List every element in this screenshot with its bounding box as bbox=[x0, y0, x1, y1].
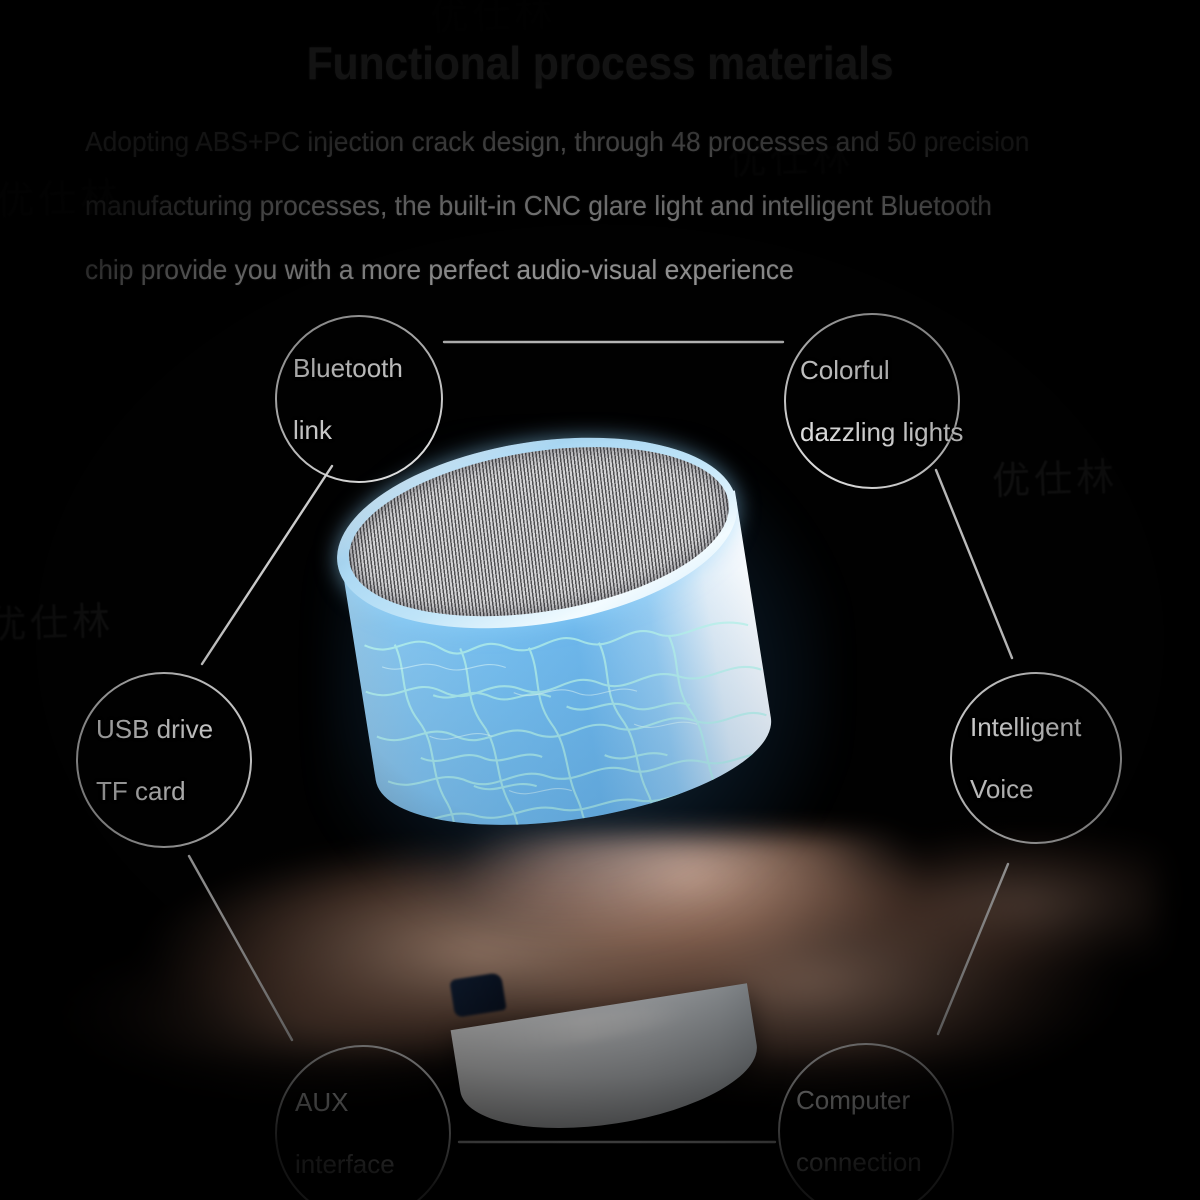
connector-right-lower bbox=[938, 864, 1008, 1034]
connector-left-lower bbox=[189, 856, 292, 1040]
page-title: Functional process materials bbox=[42, 36, 1158, 90]
callout-intelligent-voice[interactable]: Intelligent Voice bbox=[950, 672, 1122, 844]
callout-line: dazzling lights bbox=[800, 401, 958, 463]
callout-line: Colorful bbox=[800, 339, 958, 401]
page-subtitle: Adopting ABS+PC injection crack design, … bbox=[85, 110, 1117, 302]
callout-line: TF card bbox=[96, 760, 250, 822]
callout-line: Intelligent bbox=[970, 696, 1120, 758]
callout-line: USB drive bbox=[96, 698, 250, 760]
callout-line: Bluetooth bbox=[293, 337, 441, 399]
callout-colorful-lights[interactable]: Colorful dazzling lights bbox=[784, 313, 960, 489]
callout-line: connection bbox=[796, 1131, 952, 1193]
callout-usb-tf-card[interactable]: USB drive TF card bbox=[76, 672, 252, 848]
callout-line: link bbox=[293, 399, 441, 461]
connector-left-upper bbox=[202, 466, 332, 664]
callout-line: interface bbox=[295, 1133, 449, 1195]
callout-line: Voice bbox=[970, 758, 1120, 820]
callout-line: AUX bbox=[295, 1071, 449, 1133]
subtitle-line: chip provide you with a more perfect aud… bbox=[85, 238, 1117, 302]
connector-right-upper bbox=[936, 470, 1012, 658]
subtitle-line: manufacturing processes, the built-in CN… bbox=[85, 174, 1117, 238]
callout-line: Computer bbox=[796, 1069, 952, 1131]
callout-bluetooth-link[interactable]: Bluetooth link bbox=[275, 315, 443, 483]
subtitle-line: Adopting ABS+PC injection crack design, … bbox=[85, 110, 1117, 174]
infographic-canvas: 优仕林 优仕林 优仕林 优仕林 优仕林 bbox=[0, 0, 1200, 1200]
